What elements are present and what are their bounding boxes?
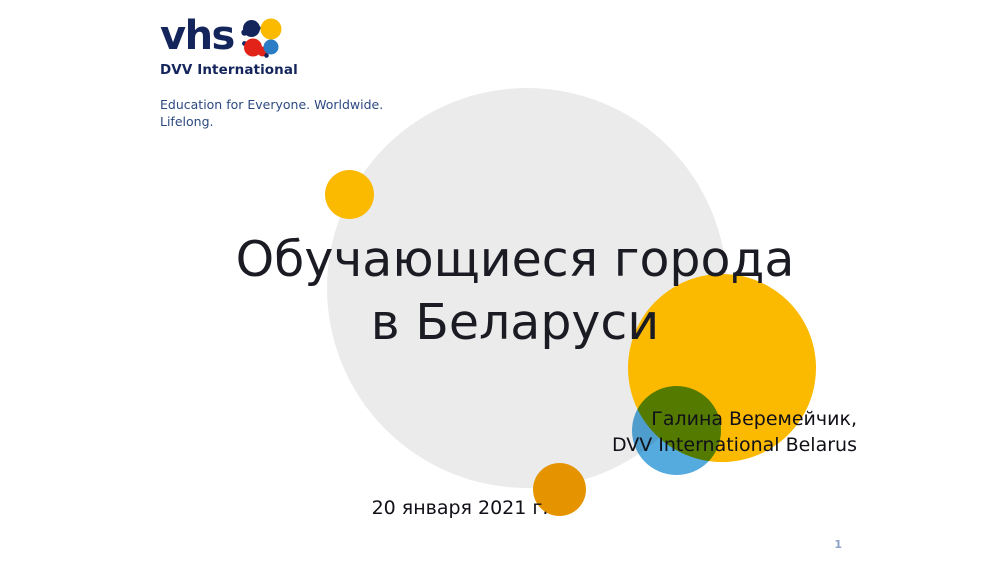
logo-tagline: Education for Everyone. Worldwide. Lifel… xyxy=(160,96,385,130)
page-number: 1 xyxy=(834,538,842,551)
slide-title: Обучающиеся города в Беларуси xyxy=(120,228,910,354)
logo-org-name: DVV International xyxy=(160,62,420,78)
vhs-dots-icon xyxy=(238,16,284,62)
vhs-wordmark: vhs xyxy=(160,14,234,58)
slide-author: Галина Веремейчик, DVV International Bel… xyxy=(612,406,857,458)
slide-date: 20 января 2021 г. xyxy=(330,497,590,519)
presentation-slide: vhs DVV International Education for Ever… xyxy=(0,0,1000,562)
decorative-circle-yellow-small xyxy=(325,170,374,219)
dvv-logo-block: vhs DVV International Education for Ever… xyxy=(160,14,420,130)
logo-row: vhs xyxy=(160,14,420,60)
